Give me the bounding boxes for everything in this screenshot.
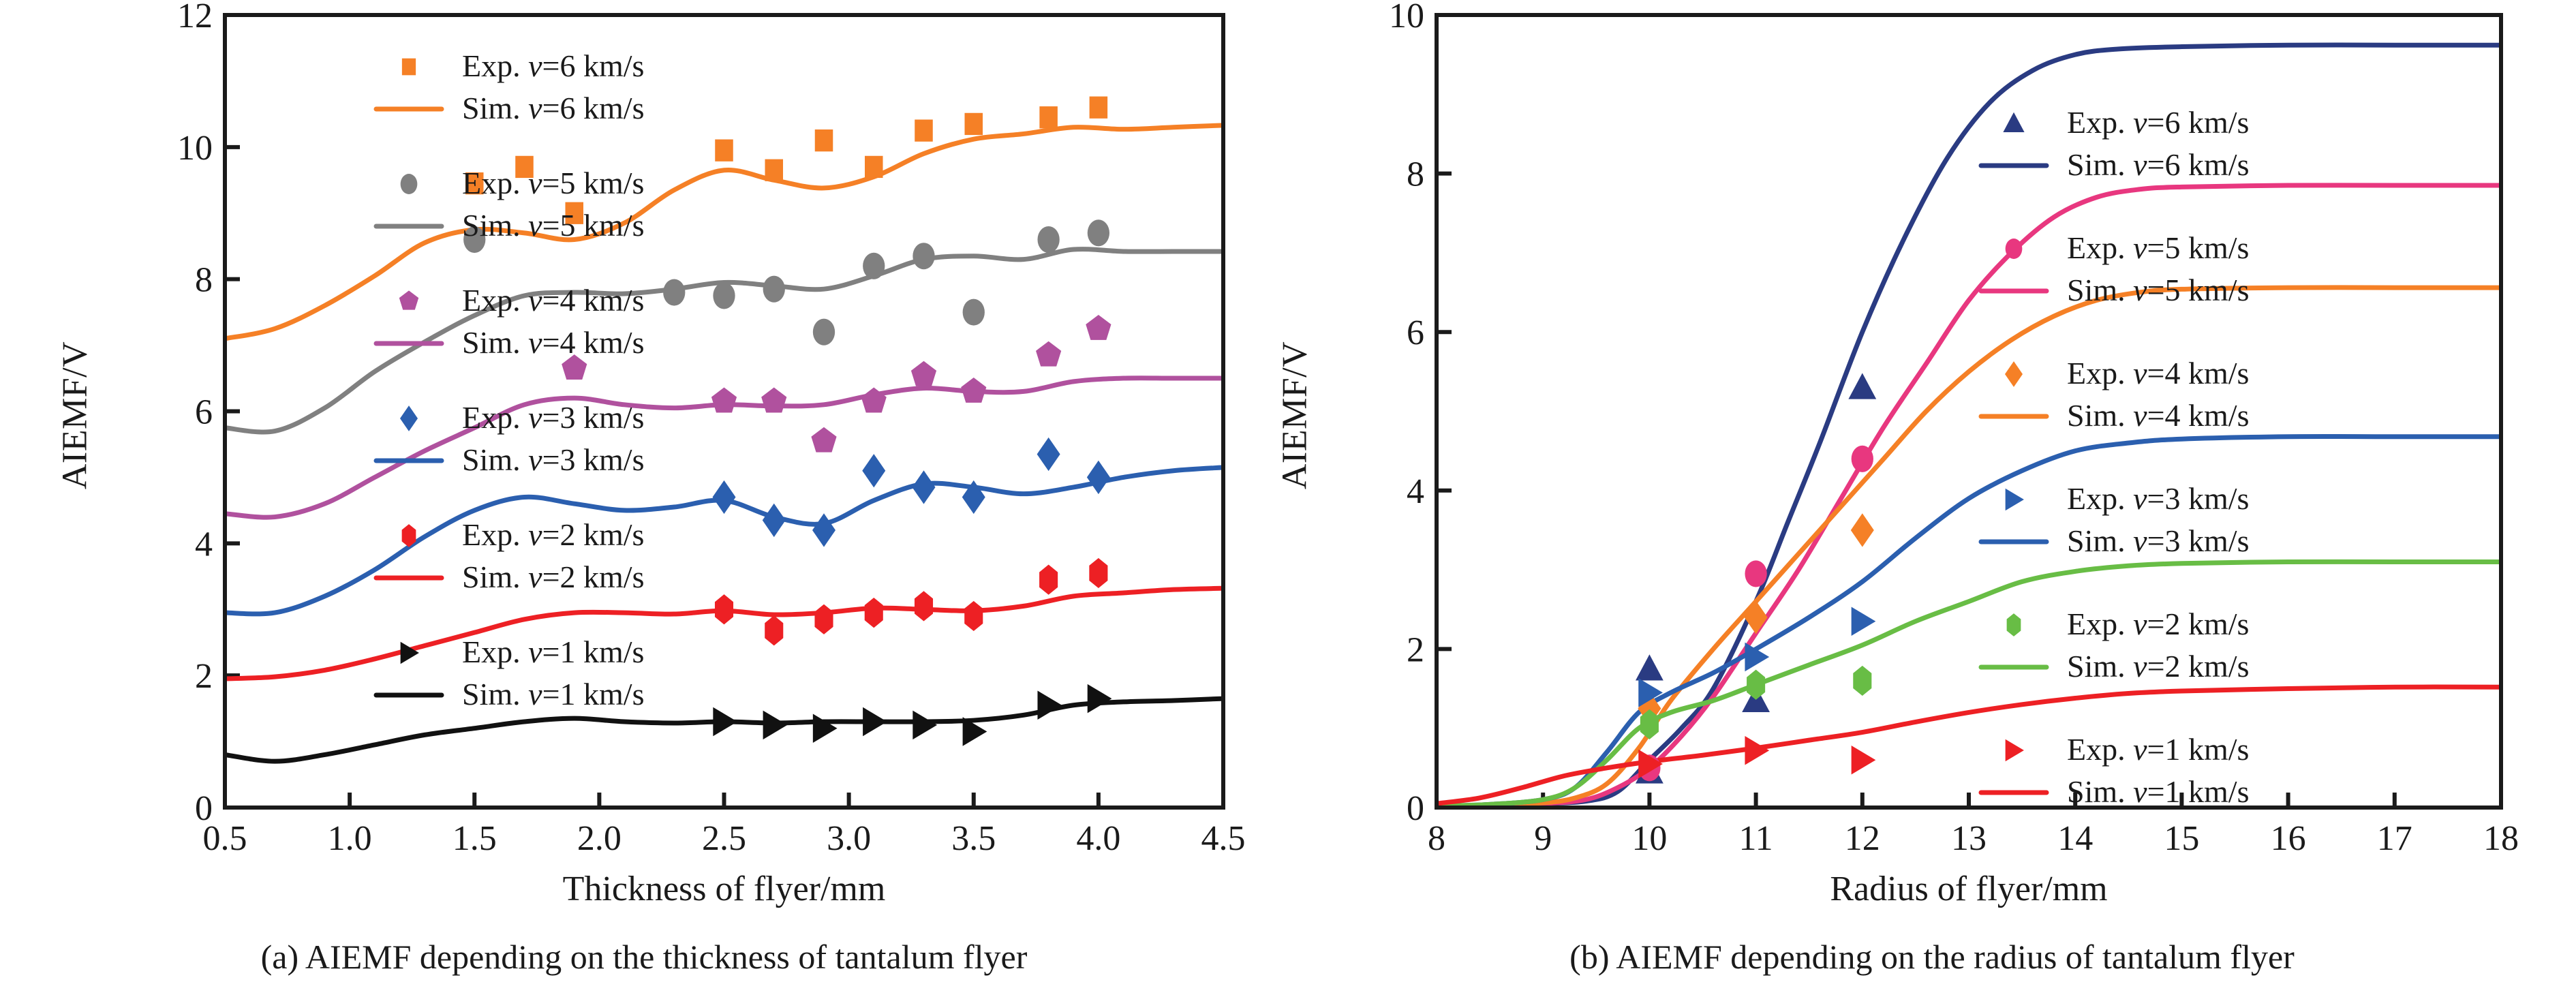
exp-point-sim-v-3-km-s-0 xyxy=(713,480,736,514)
exp-point-sim-v-5-km-s-2 xyxy=(713,282,735,309)
exp-point-sim-v-2-km-s-2 xyxy=(814,604,833,634)
legend-item-7[interactable]: Sim. v=3 km/s xyxy=(376,442,644,477)
exp-point-sim-v-1-km-s-2 xyxy=(1852,746,1876,775)
legend-marker-circle-2 xyxy=(401,174,418,194)
legend-item-4[interactable]: Exp. v=4 km/s xyxy=(2005,356,2249,390)
panel-a-plot: 0.51.01.52.02.53.03.54.04.5024681012Exp.… xyxy=(0,0,1288,879)
exp-point-sim-v-6-km-s-7 xyxy=(915,119,933,141)
legend-marker-triangle-up-0 xyxy=(2003,112,2024,132)
legend-item-label: Exp. v=2 km/s xyxy=(2067,607,2249,641)
legend-item-label: Exp. v=6 km/s xyxy=(2067,105,2249,140)
legend-item-1[interactable]: Sim. v=6 km/s xyxy=(1981,147,2249,182)
exp-point-sim-v-5-km-s-5 xyxy=(863,253,885,279)
y-tick-label: 4 xyxy=(195,525,213,564)
exp-point-sim-v-4-km-s-5 xyxy=(911,361,936,386)
exp-point-sim-v-3-km-s-2 xyxy=(1852,607,1876,636)
series-group xyxy=(225,97,1223,762)
exp-point-sim-v-1-km-s-4 xyxy=(913,711,937,740)
legend-marker-square-0 xyxy=(402,59,416,76)
exp-point-sim-v-6-km-s-3 xyxy=(1848,373,1876,399)
legend-marker-triangle-right-10 xyxy=(401,642,419,664)
sim-curve-sim-v-3-km-s xyxy=(1437,436,2501,806)
exp-point-sim-v-6-km-s-4 xyxy=(765,159,783,181)
legend-item-label: Sim. v=4 km/s xyxy=(2067,398,2249,433)
y-tick-label: 12 xyxy=(177,0,213,35)
legend-item-11[interactable]: Sim. v=1 km/s xyxy=(376,677,644,711)
legend-item-2[interactable]: Exp. v=5 km/s xyxy=(2006,230,2250,265)
exp-point-sim-v-1-km-s-6 xyxy=(1037,691,1062,720)
x-tick-label: 11 xyxy=(1739,819,1773,858)
y-tick-label: 8 xyxy=(1407,155,1424,194)
legend-item-11[interactable]: Sim. v=1 km/s xyxy=(1981,774,2249,809)
legend-item-label: Sim. v=2 km/s xyxy=(2067,649,2249,684)
exp-point-sim-v-6-km-s-3 xyxy=(715,140,733,162)
legend-item-7[interactable]: Sim. v=3 km/s xyxy=(1981,523,2249,558)
panel-a-y-axis-label: AIEMF/V xyxy=(55,313,95,518)
exp-point-sim-v-4-km-s-1 xyxy=(1745,600,1768,634)
panel-a-caption: (a) AIEMF depending on the thickness of … xyxy=(0,937,1288,977)
legend-item-label: Exp. v=1 km/s xyxy=(2067,732,2249,767)
exp-point-sim-v-2-km-s-0 xyxy=(715,594,733,624)
legend-item-label: Exp. v=3 km/s xyxy=(2067,481,2249,516)
x-tick-label: 3.5 xyxy=(951,819,996,858)
exp-point-sim-v-3-km-s-4 xyxy=(913,470,936,504)
x-tick-label: 1.0 xyxy=(328,819,372,858)
legend-item-5[interactable]: Sim. v=4 km/s xyxy=(1981,398,2249,433)
panel-b-caption: (b) AIEMF depending on the radius of tan… xyxy=(1288,937,2576,977)
exp-point-sim-v-2-km-s-6 xyxy=(1039,565,1058,595)
panel-b: 891011121314151617180246810Exp. v=6 km/s… xyxy=(1288,0,2576,997)
legend-marker-circle-2 xyxy=(2006,239,2023,259)
exp-point-sim-v-4-km-s-1 xyxy=(711,388,737,413)
legend-marker-hexagon-8 xyxy=(2007,613,2021,636)
exp-point-sim-v-6-km-s-5 xyxy=(815,129,833,151)
exp-point-sim-v-5-km-s-6 xyxy=(913,243,934,269)
exp-point-sim-v-5-km-s-8 xyxy=(1037,226,1059,253)
exp-point-sim-v-6-km-s-1 xyxy=(1636,654,1663,680)
exp-point-sim-v-4-km-s-3 xyxy=(811,427,836,453)
exp-point-sim-v-4-km-s-2 xyxy=(761,388,786,413)
panel-a-x-axis-label: Thickness of flyer/mm xyxy=(225,869,1223,909)
legend-item-label: Exp. v=5 km/s xyxy=(462,166,644,200)
legend-item-label: Sim. v=6 km/s xyxy=(2067,147,2249,182)
exp-point-sim-v-5-km-s-3 xyxy=(763,276,785,303)
exp-point-sim-v-1-km-s-1 xyxy=(1745,736,1769,765)
exp-point-sim-v-1-km-s-3 xyxy=(863,707,887,737)
exp-point-sim-v-5-km-s-4 xyxy=(813,319,835,346)
legend-item-0[interactable]: Exp. v=6 km/s xyxy=(2003,105,2249,140)
legend-item-10[interactable]: Exp. v=1 km/s xyxy=(2006,732,2250,767)
legend-item-2[interactable]: Exp. v=5 km/s xyxy=(401,166,645,200)
exp-point-sim-v-5-km-s-1 xyxy=(1745,560,1766,587)
legend-item-label: Sim. v=5 km/s xyxy=(462,208,644,243)
legend-item-label: Sim. v=5 km/s xyxy=(2067,273,2249,307)
x-tick-label: 2.5 xyxy=(702,819,746,858)
exp-point-sim-v-4-km-s-7 xyxy=(1036,341,1061,367)
y-tick-label: 10 xyxy=(177,129,213,168)
exp-point-sim-v-3-km-s-6 xyxy=(1037,438,1060,471)
legend-item-label: Exp. v=4 km/s xyxy=(462,283,644,318)
legend-item-label: Sim. v=3 km/s xyxy=(2067,523,2249,558)
legend-item-label: Sim. v=4 km/s xyxy=(462,325,644,360)
sim-curve-sim-v-4-km-s xyxy=(1437,288,2501,806)
exp-point-sim-v-2-km-s-5 xyxy=(964,601,983,631)
x-tick-label: 13 xyxy=(1951,819,1987,858)
x-tick-label: 10 xyxy=(1631,819,1667,858)
legend-item-3[interactable]: Sim. v=5 km/s xyxy=(376,208,644,243)
legend-item-label: Sim. v=1 km/s xyxy=(462,677,644,711)
exp-point-sim-v-6-km-s-8 xyxy=(964,113,983,135)
exp-point-sim-v-4-km-s-2 xyxy=(1851,513,1874,547)
legend-item-label: Sim. v=2 km/s xyxy=(462,559,644,594)
y-tick-label: 6 xyxy=(195,393,213,432)
legend-item-6[interactable]: Exp. v=3 km/s xyxy=(400,400,644,435)
exp-point-sim-v-3-km-s-2 xyxy=(812,513,835,547)
legend-item-4[interactable]: Exp. v=4 km/s xyxy=(399,283,645,318)
legend-item-8[interactable]: Exp. v=2 km/s xyxy=(2007,607,2250,641)
y-tick-label: 6 xyxy=(1407,313,1424,352)
x-tick-label: 8 xyxy=(1428,819,1445,858)
x-tick-label: 9 xyxy=(1534,819,1552,858)
x-tick-label: 17 xyxy=(2377,819,2412,858)
y-tick-label: 0 xyxy=(195,789,213,828)
y-tick-label: 0 xyxy=(1407,789,1424,828)
sim-curve-sim-v-1-km-s xyxy=(1437,687,2501,803)
exp-point-sim-v-2-km-s-1 xyxy=(1747,670,1765,700)
exp-point-sim-v-1-km-s-0 xyxy=(713,707,737,737)
panel-b-plot: 891011121314151617180246810Exp. v=6 km/s… xyxy=(1288,0,2576,879)
x-tick-label: 4.0 xyxy=(1076,819,1120,858)
exp-point-sim-v-6-km-s-10 xyxy=(1090,97,1108,119)
legend-marker-diamond-6 xyxy=(400,405,418,431)
legend-item-0[interactable]: Exp. v=6 km/s xyxy=(402,48,645,83)
legend-item-label: Exp. v=5 km/s xyxy=(2067,230,2249,265)
exp-point-sim-v-5-km-s-1 xyxy=(663,279,685,306)
figure-root: 0.51.01.52.02.53.03.54.04.5024681012Exp.… xyxy=(0,0,2576,997)
exp-point-sim-v-2-km-s-4 xyxy=(915,591,933,621)
legend-item-label: Exp. v=6 km/s xyxy=(462,48,644,83)
x-tick-label: 2.0 xyxy=(577,819,622,858)
x-tick-label: 12 xyxy=(1845,819,1880,858)
legend-item-label: Exp. v=2 km/s xyxy=(462,517,644,552)
legend-item-3[interactable]: Sim. v=5 km/s xyxy=(1981,273,2249,307)
exp-point-sim-v-5-km-s-9 xyxy=(1088,219,1109,246)
legend-marker-triangle-right-6 xyxy=(2006,489,2024,511)
x-tick-label: 15 xyxy=(2164,819,2199,858)
legend-marker-diamond-4 xyxy=(2005,361,2023,387)
legend-marker-triangle-right-10 xyxy=(2006,739,2024,762)
exp-point-sim-v-5-km-s-2 xyxy=(1852,446,1873,472)
legend-item-9[interactable]: Sim. v=2 km/s xyxy=(1981,649,2249,684)
exp-point-sim-v-3-km-s-7 xyxy=(1087,461,1110,494)
legend-item-1[interactable]: Sim. v=6 km/s xyxy=(376,91,644,125)
exp-point-sim-v-4-km-s-8 xyxy=(1086,315,1111,340)
series-group xyxy=(1437,45,2501,806)
exp-point-sim-v-6-km-s-6 xyxy=(865,156,883,178)
y-tick-label: 2 xyxy=(1407,630,1424,669)
sim-curve-sim-v-1-km-s xyxy=(225,699,1223,761)
x-tick-label: 3.0 xyxy=(827,819,871,858)
exp-point-sim-v-6-km-s-9 xyxy=(1039,106,1058,128)
exp-point-sim-v-1-km-s-2 xyxy=(813,714,838,743)
exp-point-sim-v-3-km-s-3 xyxy=(862,454,885,487)
legend-item-8[interactable]: Exp. v=2 km/s xyxy=(402,517,645,552)
exp-point-sim-v-2-km-s-1 xyxy=(765,615,783,645)
exp-point-sim-v-1-km-s-7 xyxy=(1088,684,1112,714)
legend-item-label: Sim. v=3 km/s xyxy=(462,442,644,477)
exp-point-sim-v-5-km-s-7 xyxy=(963,299,985,326)
exp-point-sim-v-4-km-s-6 xyxy=(961,378,986,403)
legend-item-label: Sim. v=6 km/s xyxy=(462,91,644,125)
legend-item-label: Sim. v=1 km/s xyxy=(2067,774,2249,809)
exp-point-sim-v-3-km-s-1 xyxy=(763,504,786,537)
y-tick-label: 8 xyxy=(195,261,213,300)
legend-item-label: Exp. v=1 km/s xyxy=(462,634,644,669)
legend-item-5[interactable]: Sim. v=4 km/s xyxy=(376,325,644,360)
legend-item-label: Exp. v=4 km/s xyxy=(2067,356,2249,390)
legend-item-6[interactable]: Exp. v=3 km/s xyxy=(2006,481,2250,516)
legend-marker-pentagon-4 xyxy=(399,290,418,309)
exp-point-sim-v-2-km-s-2 xyxy=(1853,666,1871,696)
legend-item-10[interactable]: Exp. v=1 km/s xyxy=(401,634,645,669)
y-tick-label: 4 xyxy=(1407,472,1424,511)
panel-b-y-axis-label: AIEMF/V xyxy=(1275,313,1315,518)
x-tick-label: 18 xyxy=(2483,819,2519,858)
sim-curve-sim-v-6-km-s xyxy=(1437,45,2501,806)
legend-item-9[interactable]: Sim. v=2 km/s xyxy=(376,559,644,594)
x-tick-label: 16 xyxy=(2271,819,2306,858)
exp-point-sim-v-1-km-s-1 xyxy=(763,711,788,740)
y-tick-label: 10 xyxy=(1389,0,1424,35)
exp-point-sim-v-2-km-s-3 xyxy=(865,598,883,628)
y-tick-label: 2 xyxy=(195,657,213,696)
exp-point-sim-v-2-km-s-7 xyxy=(1089,558,1107,588)
tick-group: 891011121314151617180246810 xyxy=(1389,0,2519,858)
panel-a: 0.51.01.52.02.53.03.54.04.5024681012Exp.… xyxy=(0,0,1288,997)
panel-b-x-axis-label: Radius of flyer/mm xyxy=(1437,869,2501,909)
legend-item-label: Exp. v=3 km/s xyxy=(462,400,644,435)
x-tick-label: 14 xyxy=(2057,819,2093,858)
x-tick-label: 4.5 xyxy=(1201,819,1246,858)
x-tick-label: 1.5 xyxy=(453,819,497,858)
